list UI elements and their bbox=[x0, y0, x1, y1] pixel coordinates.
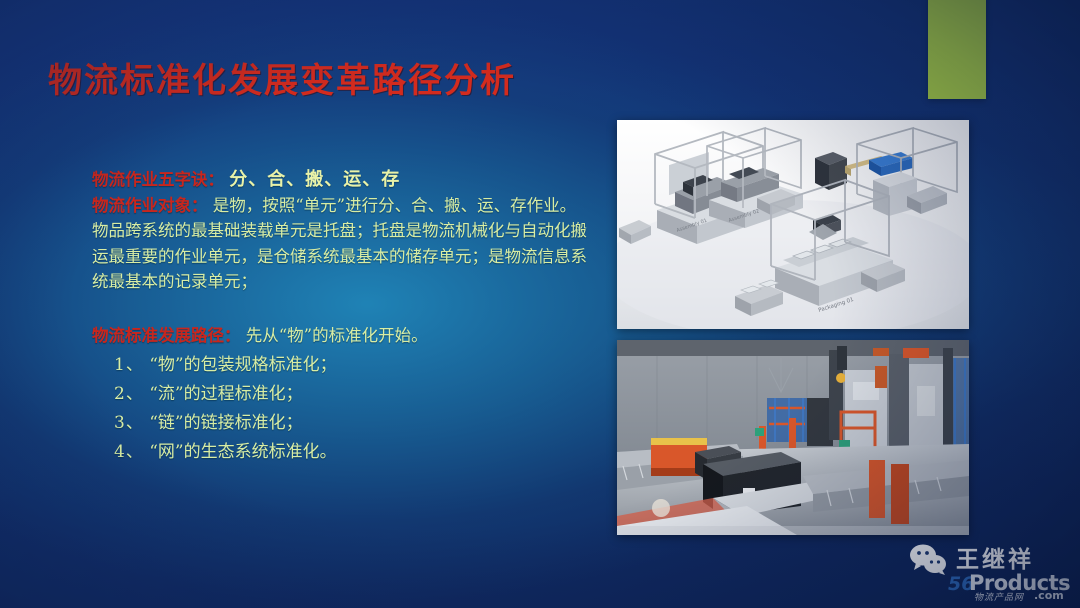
warehouse-photo-graphic bbox=[617, 340, 969, 535]
slide-canvas: 物流标准化发展变革路径分析 物流作业五字诀： 分、合、搬、运、存 物流作业对象：… bbox=[0, 0, 1080, 608]
list-item: 3、 “链”的链接标准化； bbox=[114, 409, 592, 438]
logo-com: .com bbox=[1034, 589, 1064, 602]
object-label: 物流作业对象： bbox=[92, 196, 208, 215]
accent-block bbox=[928, 0, 986, 99]
list-item: 1、 “物”的包装规格标准化； bbox=[114, 351, 592, 380]
five-character-line: 物流作业五字诀： 分、合、搬、运、存 bbox=[92, 167, 592, 193]
path-text: 先从“物”的标准化开始。 bbox=[246, 326, 428, 345]
list-item-number: 1、 bbox=[114, 355, 144, 375]
path-paragraph: 物流标准发展路径： 先从“物”的标准化开始。 bbox=[92, 323, 592, 349]
photo-warehouse-conveyor bbox=[617, 340, 969, 535]
list-item-text: “物”的包装规格标准化； bbox=[149, 355, 336, 375]
five-character-label: 物流作业五字诀： bbox=[92, 170, 224, 189]
paragraph-spacer bbox=[92, 295, 592, 323]
list-item: 4、 “网”的生态系统标准化。 bbox=[114, 438, 592, 467]
list-item-number: 4、 bbox=[114, 442, 144, 462]
list-item-text: “流”的过程标准化； bbox=[149, 384, 302, 404]
footer-brand: 王继祥 56 Products 物流产品网 .com bbox=[900, 540, 1072, 602]
list-item-text: “网”的生态系统标准化。 bbox=[149, 442, 336, 462]
assembly-render-graphic: Assembly 01 Assembly 02 bbox=[617, 120, 969, 329]
list-item-text: “链”的链接标准化； bbox=[149, 413, 302, 433]
object-paragraph: 物流作业对象： 是物，按照“单元”进行分、合、搬、运、存作业。物品跨系统的最基础… bbox=[92, 193, 592, 295]
list-item-number: 2、 bbox=[114, 384, 144, 404]
list-item: 2、 “流”的过程标准化； bbox=[114, 380, 592, 409]
page-title: 物流标准化发展变革路径分析 bbox=[48, 53, 516, 102]
body-content: 物流作业五字诀： 分、合、搬、运、存 物流作业对象： 是物，按照“单元”进行分、… bbox=[92, 167, 592, 467]
photo-assembly-packaging-render: Assembly 01 Assembly 02 bbox=[617, 120, 969, 329]
list-item-number: 3、 bbox=[114, 413, 144, 433]
logo-chinese-name: 物流产品网 bbox=[974, 590, 1024, 603]
standardization-list: 1、 “物”的包装规格标准化； 2、 “流”的过程标准化； 3、 “链”的链接标… bbox=[92, 351, 592, 467]
site-logo: 56 Products 物流产品网 .com bbox=[948, 571, 1072, 601]
brand-name: 王继祥 bbox=[956, 540, 1034, 574]
wechat-icon bbox=[908, 542, 948, 576]
path-label: 物流标准发展路径： bbox=[92, 326, 241, 345]
five-character-value: 分、合、搬、运、存 bbox=[229, 169, 400, 190]
